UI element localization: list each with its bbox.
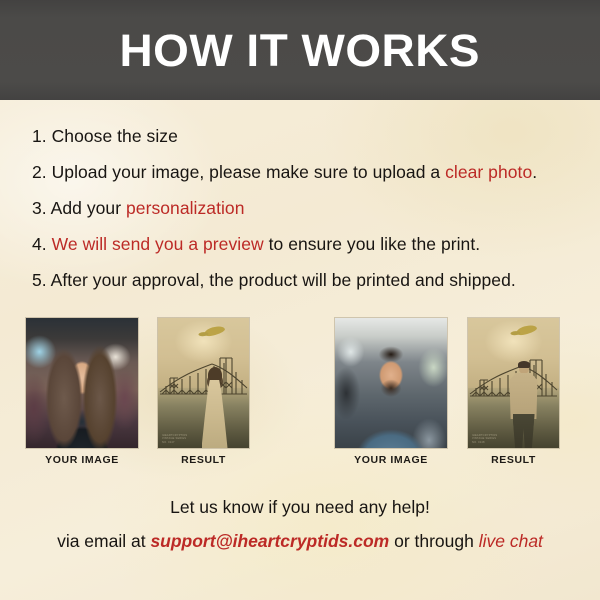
contact-middle: or through bbox=[389, 531, 479, 551]
step-highlight-clear-photo: clear photo bbox=[445, 162, 532, 182]
step-number-1: 1. bbox=[32, 126, 47, 146]
figure-dress bbox=[202, 380, 228, 448]
step-number-5: 5. bbox=[32, 270, 47, 290]
step-item-1: 1. Choose the size bbox=[32, 118, 577, 154]
live-chat-link[interactable]: live chat bbox=[479, 531, 543, 551]
vintage-woman-render: IHEARTCRYPTIDS VINTAGE SERIES NO. 0147 bbox=[158, 318, 249, 448]
step-text-2-part-3: . bbox=[532, 162, 537, 182]
step-text-4-part-3: to ensure you like the print. bbox=[264, 234, 480, 254]
help-text: Let us know if you need any help! bbox=[0, 492, 600, 522]
result-photo-1-stamp: IHEARTCRYPTIDS VINTAGE SERIES NO. 0147 bbox=[162, 434, 187, 444]
gallery-item-source-1: YOUR IMAGE bbox=[26, 318, 138, 448]
source-photo-2 bbox=[335, 318, 447, 448]
ufo-icon bbox=[203, 324, 225, 337]
vintage-man-figure bbox=[506, 362, 542, 448]
step-text-5-part-1: After your approval, the product will be… bbox=[47, 270, 516, 290]
contact-prefix: via email at bbox=[57, 531, 150, 551]
source-photo-1 bbox=[26, 318, 138, 448]
result-photo-2-label: RESULT bbox=[468, 454, 559, 466]
result-photo-1-label: RESULT bbox=[158, 454, 249, 466]
vintage-man-render: IHEARTCRYPTIDS VINTAGE SERIES NO. 0148 bbox=[468, 318, 559, 448]
step-item-3: 3. Add your personalization bbox=[32, 190, 577, 226]
step-number-4: 4. bbox=[32, 234, 47, 254]
step-item-5: 5. After your approval, the product will… bbox=[32, 262, 577, 298]
woman-selfie-image bbox=[26, 318, 138, 448]
step-number-3: 3. bbox=[32, 198, 47, 218]
footer: Let us know if you need any help! via em… bbox=[0, 492, 600, 560]
ufo-icon bbox=[515, 323, 537, 336]
step-item-2: 2. Upload your image, please make sure t… bbox=[32, 154, 577, 190]
figure-legs bbox=[513, 414, 535, 448]
step-text-2-part-1: Upload your image, please make sure to u… bbox=[47, 162, 445, 182]
support-email-link[interactable]: support@iheartcryptids.com bbox=[150, 531, 389, 551]
gallery-item-source-2: YOUR IMAGE bbox=[335, 318, 447, 448]
gallery-item-result-2: IHEARTCRYPTIDS VINTAGE SERIES NO. 0148 R… bbox=[468, 318, 559, 448]
how-it-works-infographic: HOW IT WORKS 1. Choose the size 2. Uploa… bbox=[0, 0, 600, 600]
header-bar: HOW IT WORKS bbox=[0, 0, 600, 100]
result-photo-2: IHEARTCRYPTIDS VINTAGE SERIES NO. 0148 bbox=[468, 318, 559, 448]
step-highlight-preview: We will send you a preview bbox=[52, 234, 264, 254]
figure-hair bbox=[518, 361, 530, 368]
source-photo-2-label: YOUR IMAGE bbox=[335, 454, 447, 466]
result-photo-1: IHEARTCRYPTIDS VINTAGE SERIES NO. 0147 bbox=[158, 318, 249, 448]
step-number-2: 2. bbox=[32, 162, 47, 182]
vintage-woman-figure bbox=[198, 368, 232, 448]
source-photo-1-label: YOUR IMAGE bbox=[26, 454, 138, 466]
figure-coat bbox=[510, 373, 538, 419]
step-text-1-part-1: Choose the size bbox=[47, 126, 178, 146]
page-title: HOW IT WORKS bbox=[120, 28, 481, 73]
result-photo-2-stamp: IHEARTCRYPTIDS VINTAGE SERIES NO. 0148 bbox=[472, 434, 497, 444]
step-text-3-part-1: Add your bbox=[47, 198, 126, 218]
step-highlight-personalization: personalization bbox=[126, 198, 244, 218]
steps-list: 1. Choose the size 2. Upload your image,… bbox=[32, 118, 577, 298]
step-item-4: 4. We will send you a preview to ensure … bbox=[32, 226, 577, 262]
contact-line: via email at support@iheartcryptids.com … bbox=[0, 522, 600, 560]
gallery-item-result-1: IHEARTCRYPTIDS VINTAGE SERIES NO. 0147 R… bbox=[158, 318, 249, 448]
example-gallery: YOUR IMAGE bbox=[0, 318, 600, 478]
man-selfie-image bbox=[335, 318, 447, 448]
